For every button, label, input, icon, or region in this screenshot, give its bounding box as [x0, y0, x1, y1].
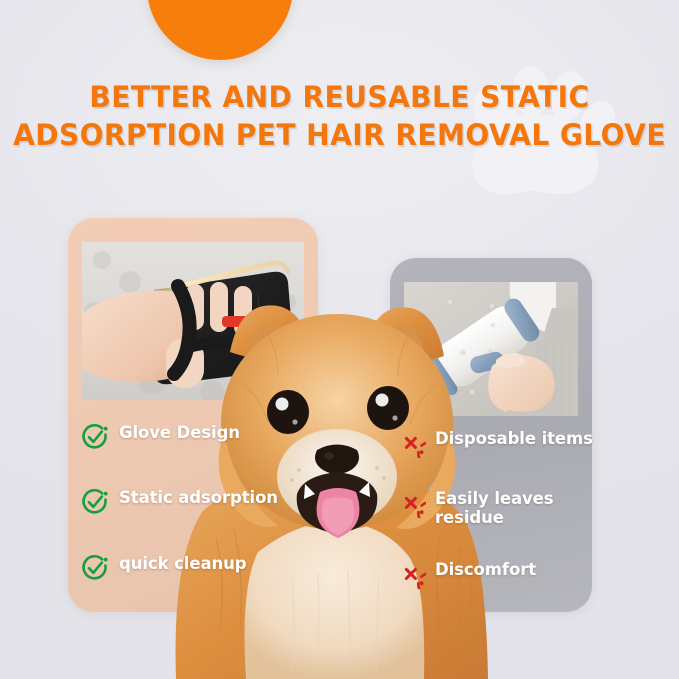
- title-line-2: ADSORPTION PET HAIR REMOVAL GLOVE: [10, 116, 669, 154]
- banner-title: BETTER AND REUSABLE STATIC ADSORPTION PE…: [10, 78, 669, 155]
- red-x-circle-icon: [396, 559, 426, 589]
- green-check-circle-icon: [80, 422, 110, 452]
- pros-item-label: quick cleanup: [119, 555, 246, 574]
- title-line-1: BETTER AND REUSABLE STATIC: [10, 78, 669, 116]
- pros-item-1: Static adsorption: [80, 489, 278, 517]
- cons-item-1: Easily leaves residue: [396, 490, 554, 528]
- cons-item-2: Discomfort: [396, 561, 536, 589]
- cons-item-label: Discomfort: [435, 561, 536, 580]
- green-check-circle-icon: [80, 487, 110, 517]
- red-x-circle-icon: [396, 488, 426, 518]
- green-check-circle-icon: [80, 553, 110, 583]
- pros-item-0: Glove Design: [80, 424, 240, 452]
- pros-item-2: quick cleanup: [80, 555, 246, 583]
- pros-item-label: Glove Design: [119, 424, 240, 443]
- pomeranian-dog-photo: [172, 262, 502, 679]
- promo-banner: BETTER AND REUSABLE STATIC ADSORPTION PE…: [0, 0, 679, 679]
- cons-item-label: Disposable items: [435, 430, 593, 449]
- cons-item-0: Disposable items: [396, 430, 593, 458]
- pros-item-label: Static adsorption: [119, 489, 278, 508]
- cons-item-label: Easily leaves residue: [435, 490, 554, 528]
- orange-dome-decoration: [147, 0, 293, 60]
- red-x-circle-icon: [396, 428, 426, 458]
